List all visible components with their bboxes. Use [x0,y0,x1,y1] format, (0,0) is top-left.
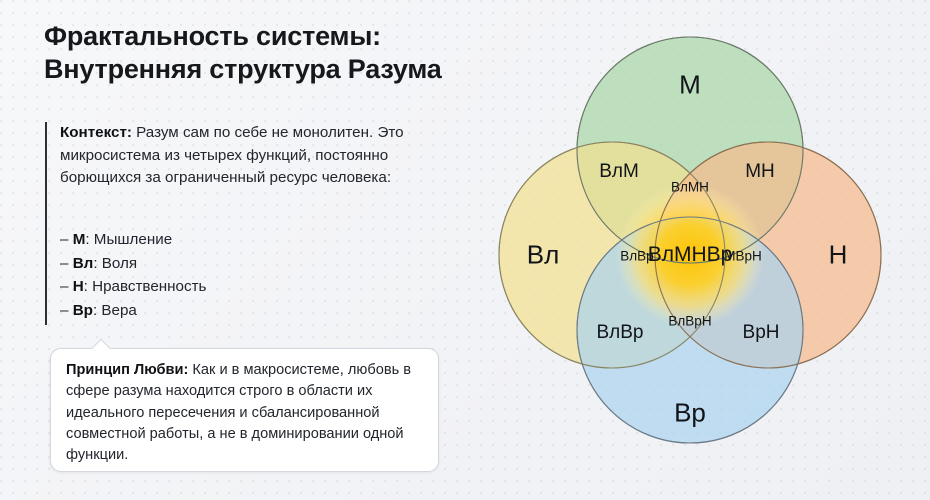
title-line-1: Фрактальность системы: [44,21,381,51]
legend-value: Нравственность [92,278,206,295]
legend-sep: : [84,278,92,295]
legend-item-n: – Н: Нравственность [60,275,390,299]
legend-dash: – [60,278,68,295]
card-label: Принцип Любви: [66,362,188,378]
legend-key: Вр [73,302,93,319]
context-paragraph: Контекст: Разум сам по себе не монолитен… [60,122,445,190]
legend-value: Вера [101,302,136,319]
legend-dash: – [60,255,68,272]
legend-sep: : [85,231,93,248]
context-label: Контекст: [60,124,132,141]
legend-sep: : [93,255,101,272]
legend-item-vl: – Вл: Воля [60,252,390,276]
legend-dash: – [60,302,68,319]
card-text: Принцип Любви: Как и в макросистеме, люб… [66,360,426,466]
venn-svg [470,0,930,500]
legend-key: Н [73,278,84,295]
legend-value: Мышление [94,231,172,248]
legend-key: М [73,231,86,248]
venn-diagram: М Вл Н Вр ВлМ МН ВлВр ВрН ВлМН ВлВр МВрН… [470,0,930,500]
legend-key: Вл [73,255,94,272]
legend-item-vr: – Вр: Вера [60,299,390,323]
accent-bar [45,122,47,325]
legend-dash: – [60,231,68,248]
card-pointer-icon [90,338,112,349]
venn-center-glow [616,183,764,327]
principle-card: Принцип Любви: Как и в макросистеме, люб… [50,348,439,472]
legend-item-m: – М: Мышление [60,228,390,252]
legend-list: – М: Мышление – Вл: Воля – Н: Нравственн… [60,228,390,322]
legend-value: Воля [102,255,137,272]
